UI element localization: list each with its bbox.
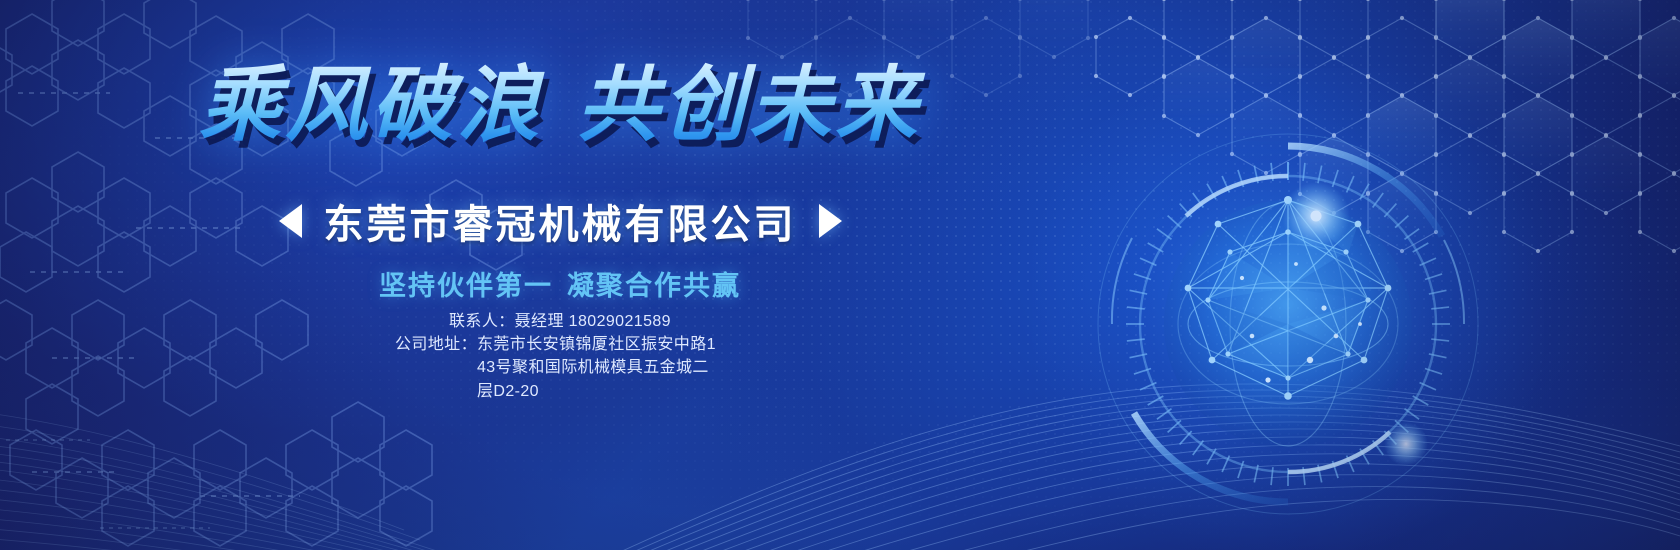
banner-content: 乘风破浪共创未来 东莞市睿冠机械有限公司 坚持伙伴第一凝聚合作共赢 联系人： 聂… bbox=[0, 0, 1120, 550]
contact-person-line: 联系人： 聂经理 18029021589 bbox=[449, 310, 671, 333]
triangle-left-icon bbox=[279, 204, 302, 238]
company-name-row: 东莞市睿冠机械有限公司 bbox=[0, 192, 1120, 250]
slogan-part2: 凝聚合作共赢 bbox=[567, 271, 741, 301]
triangle-right-icon bbox=[819, 204, 842, 238]
contact-block: 联系人： 聂经理 18029021589 公司地址： 东莞市长安镇锦厦社区振安中… bbox=[0, 310, 1120, 403]
tech-globe-icon bbox=[1092, 128, 1484, 520]
contact-person-value: 聂经理 18029021589 bbox=[515, 310, 671, 333]
slogan-part1: 坚持伙伴第一 bbox=[379, 271, 553, 301]
main-title-part2: 共创未来 bbox=[577, 60, 921, 151]
contact-address-label: 公司地址： bbox=[395, 333, 477, 356]
promotional-banner: 乘风破浪共创未来 东莞市睿冠机械有限公司 坚持伙伴第一凝聚合作共赢 联系人： 聂… bbox=[0, 0, 1680, 550]
page-title: 乘风破浪共创未来 bbox=[0, 60, 1120, 152]
contact-address-value: 东莞市长安镇锦厦社区振安中路143号聚和国际机械模具五金城二层D2-20 bbox=[477, 333, 725, 403]
contact-person-label: 联系人： bbox=[449, 310, 515, 333]
slogan: 坚持伙伴第一凝聚合作共赢 bbox=[0, 264, 1120, 303]
main-title-part1: 乘风破浪 bbox=[199, 60, 543, 151]
contact-address-line: 公司地址： 东莞市长安镇锦厦社区振安中路143号聚和国际机械模具五金城二层D2-… bbox=[395, 333, 725, 403]
company-name: 东莞市睿冠机械有限公司 bbox=[324, 192, 797, 250]
